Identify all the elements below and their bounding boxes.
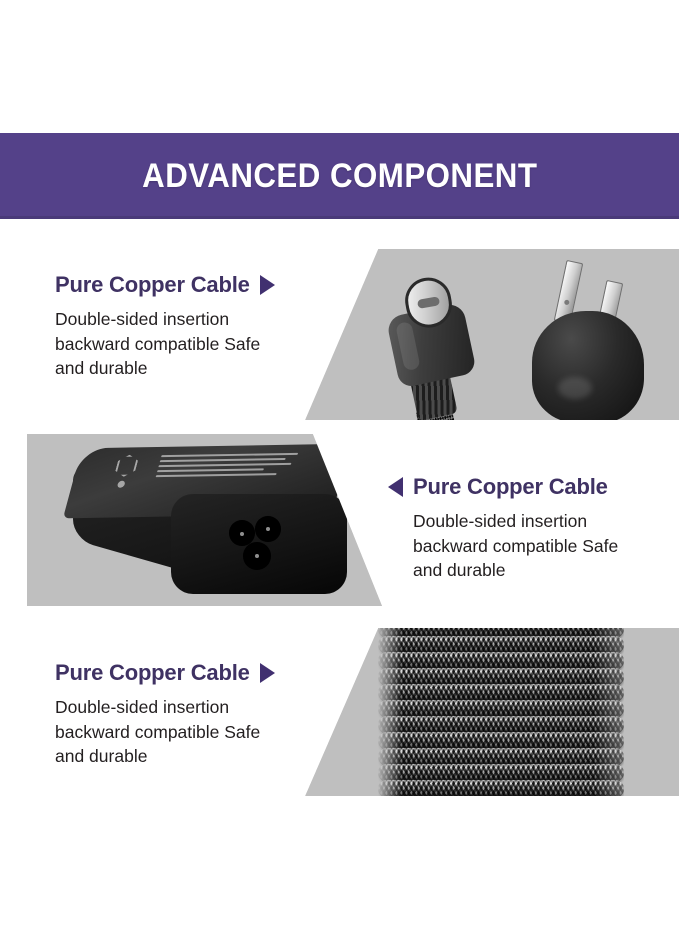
feature-heading-row-1: Pure Copper Cable	[55, 272, 275, 298]
feature-heading-row-3: Pure Copper Cable	[55, 660, 275, 686]
adapter-rating-label	[151, 450, 299, 494]
label-text-line	[156, 473, 277, 477]
adapter-front-face	[171, 494, 347, 594]
page-title: ADVANCED COMPONENT	[142, 157, 537, 196]
feature-body-line: backward compatible Safe	[55, 720, 275, 745]
feature-body-line: and durable	[55, 356, 275, 381]
feature-body-line: Double-sided insertion	[413, 509, 618, 534]
feature-heading-3: Pure Copper Cable	[55, 660, 250, 686]
feature-body-2: Double-sided insertion backward compatib…	[413, 509, 618, 583]
label-text-line	[158, 463, 291, 467]
feature-body-3: Double-sided insertion backward compatib…	[55, 695, 275, 769]
feature-body-line: backward compatible Safe	[413, 534, 618, 559]
braided-cable-coil-icon	[378, 628, 624, 796]
header-banner-inner: ADVANCED COMPONENT	[0, 133, 679, 219]
label-text-line	[160, 458, 286, 462]
cable-turn	[378, 780, 624, 796]
feature-body-line: and durable	[413, 558, 618, 583]
ac-wall-plug-icon	[524, 259, 664, 420]
feature-block-2: Pure Copper Cable Double-sided insertion…	[388, 474, 618, 583]
feature-block-1: Pure Copper Cable Double-sided insertion…	[55, 272, 275, 381]
ac-plug-body	[532, 311, 644, 420]
feature-heading-1: Pure Copper Cable	[55, 272, 250, 298]
image-panel-usb-c-and-ac-plug	[296, 249, 679, 420]
feature-heading-2: Pure Copper Cable	[413, 474, 608, 500]
feature-body-line: Double-sided insertion	[55, 307, 275, 332]
feature-body-1: Double-sided insertion backward compatib…	[55, 307, 275, 381]
socket-pin	[266, 527, 270, 531]
header-banner: ADVANCED COMPONENT	[0, 133, 679, 219]
power-adapter-brick-icon	[73, 446, 355, 596]
socket-pin	[255, 554, 259, 558]
ac-plug-highlight	[558, 377, 592, 399]
feature-body-line: and durable	[55, 744, 275, 769]
coil-right-fade	[594, 628, 624, 796]
banner-underline	[0, 216, 679, 219]
image-panel-braided-cable	[296, 628, 679, 796]
feature-block-3: Pure Copper Cable Double-sided insertion…	[55, 660, 275, 769]
triangle-left-icon	[388, 477, 403, 497]
coil-left-fade	[378, 628, 402, 796]
socket-pin	[240, 532, 244, 536]
label-text-line	[157, 468, 264, 472]
triangle-right-icon	[260, 275, 275, 295]
feature-body-line: backward compatible Safe	[55, 332, 275, 357]
triangle-right-icon	[260, 663, 275, 683]
infographic-page: ADVANCED COMPONENT Pure Copper Cable	[0, 0, 679, 925]
label-text-line	[161, 453, 298, 457]
feature-body-line: Double-sided insertion	[55, 695, 275, 720]
cloverleaf-socket-icon	[229, 516, 291, 574]
feature-heading-row-2: Pure Copper Cable	[388, 474, 618, 500]
image-panel-power-adapter	[27, 434, 382, 606]
